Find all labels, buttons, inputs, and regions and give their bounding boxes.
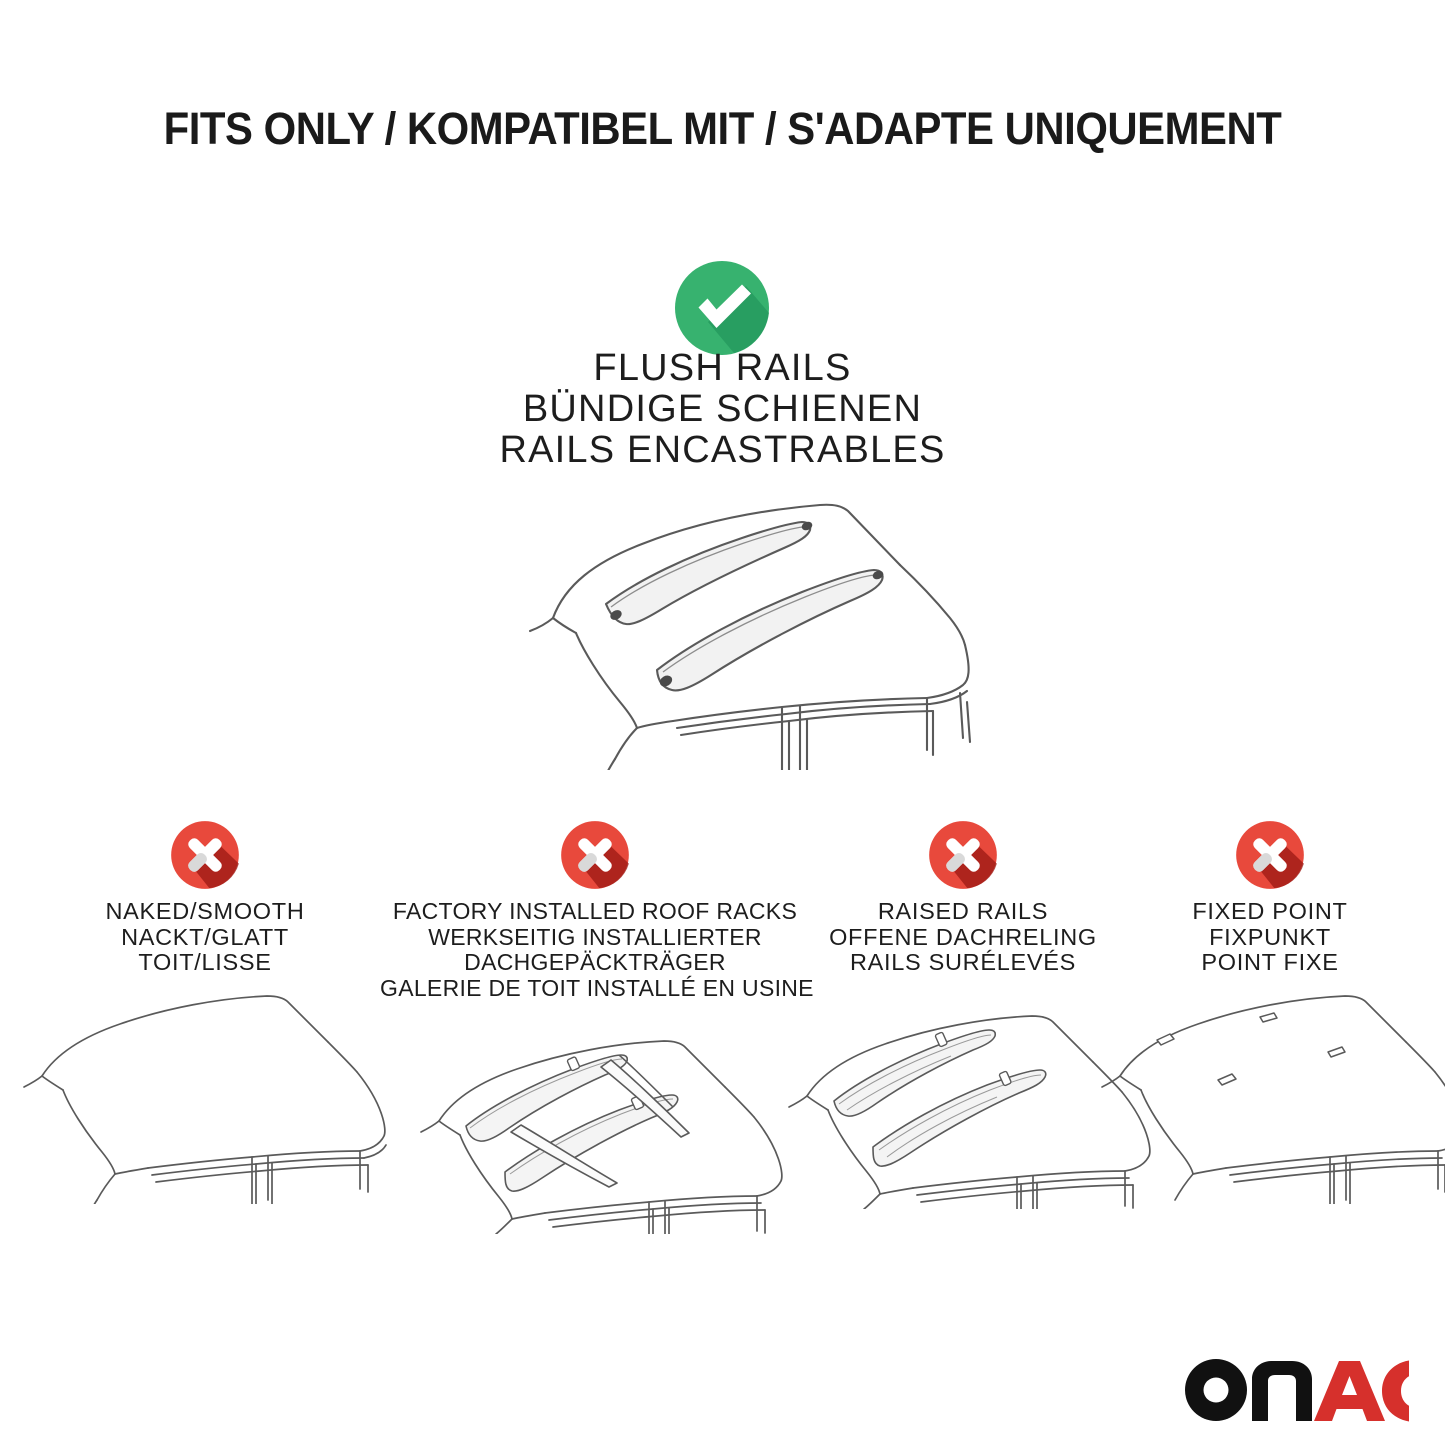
badge-wrap xyxy=(20,815,390,899)
check-circle-icon xyxy=(672,258,772,358)
label-line-en: FACTORY INSTALLED ROOF RACKS xyxy=(380,899,810,925)
car-roof-raised-rails-illustration xyxy=(805,984,1121,1214)
logo-letter-o xyxy=(1185,1359,1247,1421)
label-line-fr: RAILS SURÉLEVÉS xyxy=(805,950,1121,976)
incompatible-label-factory-racks: FACTORY INSTALLED ROOF RACKS WERKSEITIG … xyxy=(380,899,810,1001)
badge-wrap xyxy=(380,815,810,899)
page-title: FITS ONLY / KOMPATIBEL MIT / S'ADAPTE UN… xyxy=(51,103,1395,155)
label-line-en: NAKED/SMOOTH xyxy=(20,899,390,925)
logo-letter-m xyxy=(1252,1361,1312,1421)
compatible-line-fr: RAILS ENCASTRABLES xyxy=(0,430,1445,471)
omac-logo: OMAC xyxy=(1184,1357,1409,1423)
label-line-de-2: DACHGEPÄCKTRÄGER xyxy=(380,950,810,976)
incompatible-item-factory-racks: FACTORY INSTALLED ROOF RACKS WERKSEITIG … xyxy=(380,815,810,1239)
label-line-en: FIXED POINT xyxy=(1120,899,1420,925)
label-line-de: NACKT/GLATT xyxy=(20,925,390,951)
incompatible-item-fixed-point: FIXED POINT FIXPUNKT POINT FIXE xyxy=(1120,815,1420,1214)
compatible-label: FLUSH RAILS BÜNDIGE SCHIENEN RAILS ENCAS… xyxy=(0,348,1445,471)
compatible-line-de: BÜNDIGE SCHIENEN xyxy=(0,389,1445,430)
label-line-fr: POINT FIXE xyxy=(1120,950,1420,976)
incompatible-roof-types-row: NAKED/SMOOTH NACKT/GLATT TOIT/LISSE xyxy=(0,815,1445,1235)
x-circle-icon xyxy=(1234,819,1306,891)
label-line-de: FIXPUNKT xyxy=(1120,925,1420,951)
car-roof-factory-racks-illustration xyxy=(380,1009,810,1239)
logo-letter-a xyxy=(1314,1361,1385,1421)
car-roof-naked-smooth-illustration xyxy=(20,984,390,1214)
badge-wrap xyxy=(1120,815,1420,899)
compatible-line-en: FLUSH RAILS xyxy=(0,348,1445,389)
incompatible-label-naked-smooth: NAKED/SMOOTH NACKT/GLATT TOIT/LISSE xyxy=(20,899,390,976)
compatibility-infographic: FITS ONLY / KOMPATIBEL MIT / S'ADAPTE UN… xyxy=(0,0,1445,1445)
incompatible-label-fixed-point: FIXED POINT FIXPUNKT POINT FIXE xyxy=(1120,899,1420,976)
label-line-fr: TOIT/LISSE xyxy=(20,950,390,976)
car-roof-with-flush-rails-illustration xyxy=(430,470,1030,770)
logo-letter-c xyxy=(1382,1360,1409,1422)
label-line-de-1: WERKSEITIG INSTALLIERTER xyxy=(380,925,810,951)
label-line-en: RAISED RAILS xyxy=(805,899,1121,925)
incompatible-item-raised-rails: RAISED RAILS OFFENE DACHRELING RAILS SUR… xyxy=(805,815,1121,1214)
car-roof-fixed-point-illustration xyxy=(1120,984,1420,1214)
label-line-fr: GALERIE DE TOIT INSTALLÉ EN USINE xyxy=(380,976,810,1002)
incompatible-item-naked-smooth: NAKED/SMOOTH NACKT/GLATT TOIT/LISSE xyxy=(20,815,390,1214)
x-circle-icon xyxy=(927,819,999,891)
x-circle-icon xyxy=(559,819,631,891)
incompatible-label-raised-rails: RAISED RAILS OFFENE DACHRELING RAILS SUR… xyxy=(805,899,1121,976)
x-circle-icon xyxy=(169,819,241,891)
label-line-de: OFFENE DACHRELING xyxy=(805,925,1121,951)
badge-wrap xyxy=(805,815,1121,899)
